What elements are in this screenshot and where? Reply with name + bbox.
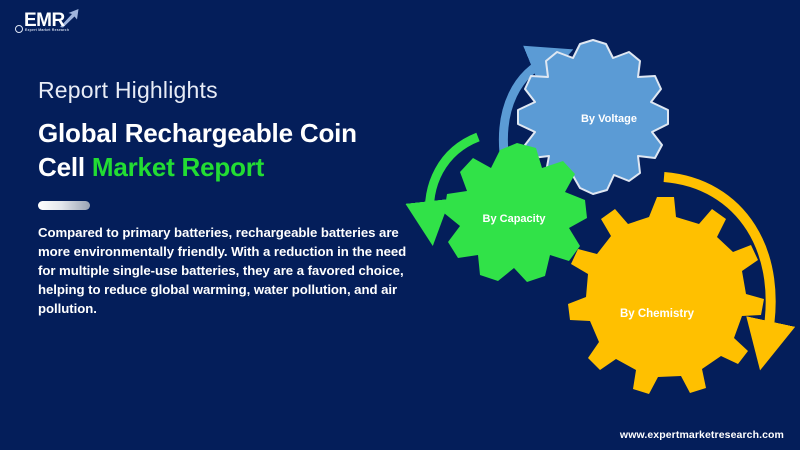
body-paragraph: Compared to primary batteries, rechargea… — [38, 223, 410, 319]
gear-chemistry-label: By Chemistry — [620, 308, 695, 320]
footer-website-url[interactable]: www.expertmarketresearch.com — [620, 429, 784, 441]
eyebrow-label: Report Highlights — [38, 78, 410, 103]
gear-capacity[interactable]: By Capacity — [444, 143, 587, 282]
emr-tagline: Expert Market Research — [25, 29, 69, 32]
page-title: Global Rechargeable Coin Cell Market Rep… — [38, 117, 410, 184]
gear-voltage-label: By Voltage — [581, 113, 637, 125]
text-column: Report Highlights Global Rechargeable Co… — [38, 78, 410, 319]
logo-ring-icon — [15, 25, 23, 33]
gear-diagram-svg: By Voltage By Capacity By Chem — [400, 25, 800, 425]
report-highlights-slide: EMR Expert Market Research Report Highli… — [0, 0, 800, 450]
gear-capacity-label: By Capacity — [483, 213, 547, 225]
gear-chemistry[interactable]: By Chemistry — [568, 197, 764, 394]
segmentation-gear-diagram: By Voltage By Capacity By Chem — [400, 25, 800, 425]
divider-pill — [38, 201, 90, 210]
title-accent: Market Report — [92, 152, 264, 182]
emr-logo[interactable]: EMR Expert Market Research — [14, 8, 84, 42]
